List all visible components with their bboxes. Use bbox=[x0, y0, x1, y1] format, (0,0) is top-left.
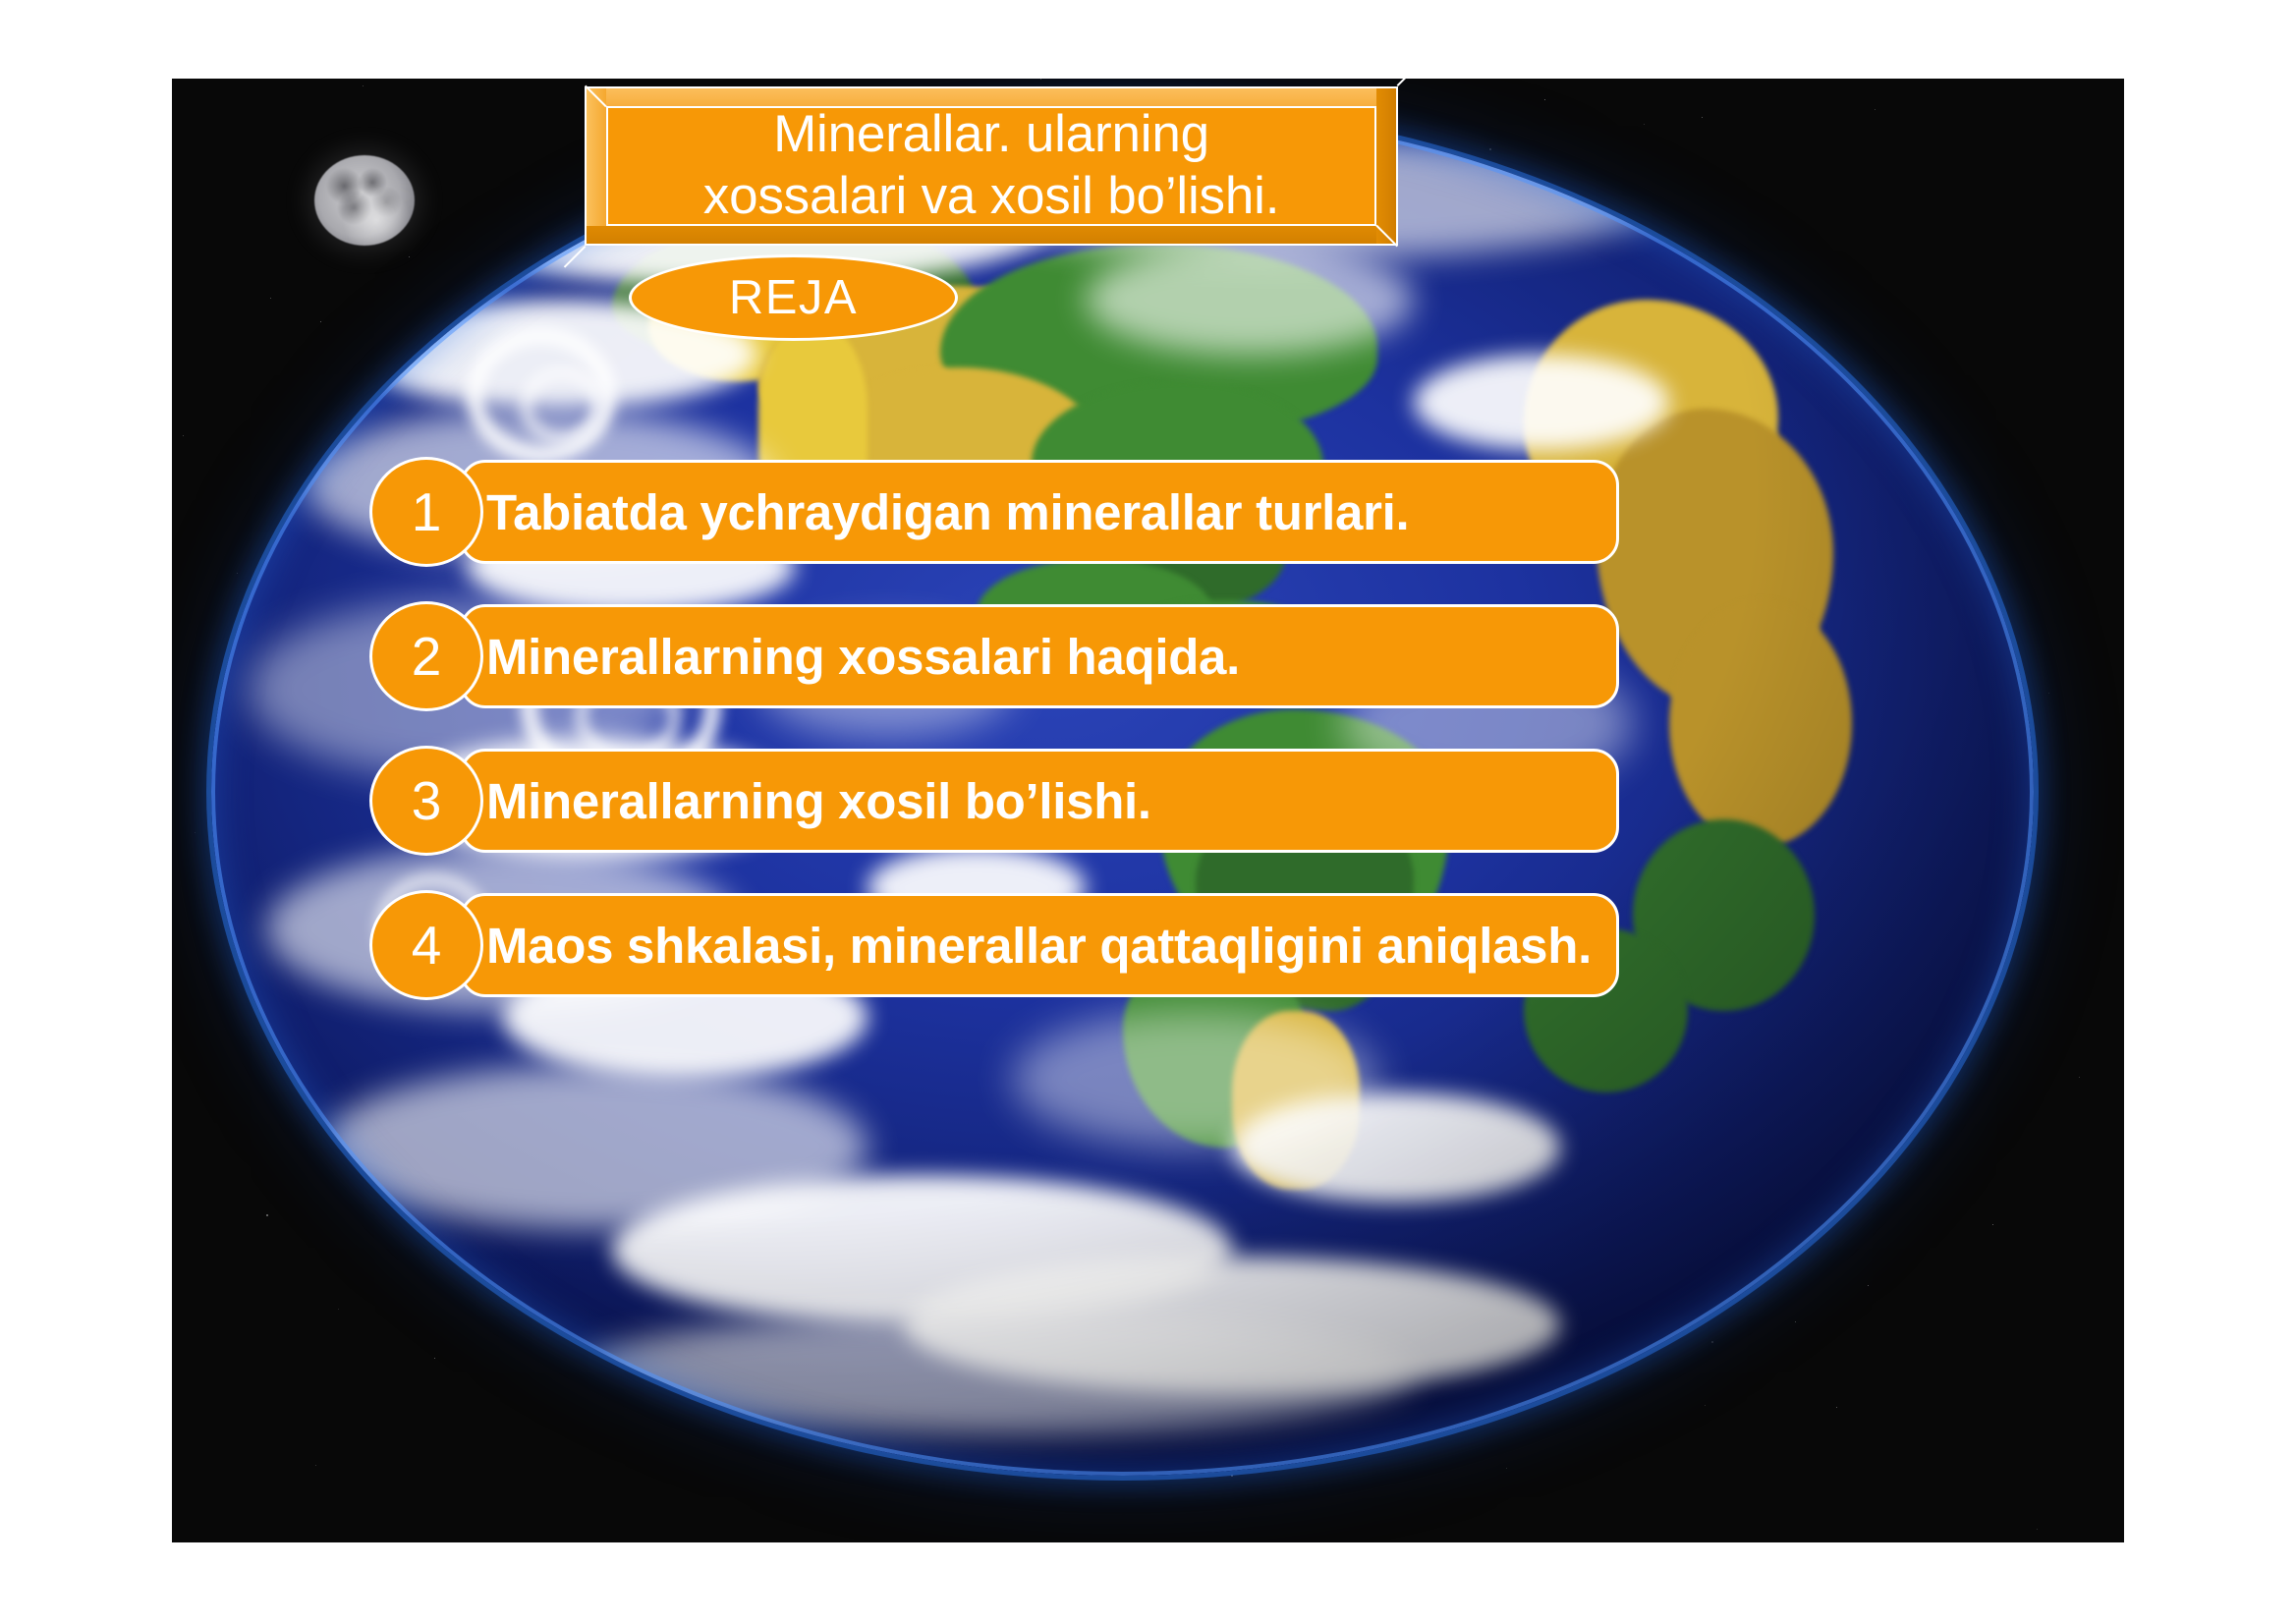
agenda-number: 3 bbox=[412, 774, 442, 828]
bevel-face-top bbox=[585, 86, 1398, 106]
bevel-face-bottom bbox=[585, 226, 1398, 246]
bevel-face-left bbox=[585, 86, 606, 246]
agenda-number-badge: 3 bbox=[369, 746, 483, 856]
star bbox=[183, 435, 184, 436]
agenda-number-badge: 4 bbox=[369, 890, 483, 1000]
agenda-item-2: 2 Minerallarning xossalari haqida. bbox=[172, 601, 2124, 711]
agenda-item-4: 4 Maos shkalasi, minerallar qattaqligini… bbox=[172, 890, 2124, 1000]
agenda-text: Maos shkalasi, minerallar qattaqligini a… bbox=[486, 893, 1592, 997]
star bbox=[363, 85, 364, 86]
agenda-number: 4 bbox=[412, 919, 442, 973]
agenda-text: Tabiatda ychraydigan minerallar turlari. bbox=[486, 460, 1409, 564]
cloud bbox=[1414, 355, 1669, 450]
slide-title-text: Minerallar. ularning xossalari va xosil … bbox=[690, 106, 1293, 226]
agenda-text: Minerallarning xosil bo’lishi. bbox=[486, 749, 1151, 853]
star bbox=[2079, 1077, 2080, 1078]
bevel-corner-tr bbox=[1397, 79, 1420, 86]
star bbox=[2037, 1529, 2038, 1530]
slide-title-inner-panel: Minerallar. ularning xossalari va xosil … bbox=[606, 106, 1376, 226]
bevel-face-right bbox=[1376, 86, 1398, 246]
agenda-number: 1 bbox=[412, 485, 442, 539]
cloud bbox=[576, 1312, 1414, 1434]
star bbox=[1544, 99, 1545, 100]
agenda-item-3: 3 Minerallarning xosil bo’lishi. bbox=[172, 746, 2124, 856]
agenda-number-badge: 2 bbox=[369, 601, 483, 711]
cloud bbox=[1086, 245, 1414, 354]
star bbox=[1040, 79, 1041, 80]
cloud bbox=[1232, 1092, 1560, 1202]
agenda-item-1: 1 Tabiatda ychraydigan minerallar turlar… bbox=[172, 457, 2124, 567]
slide-title-box: Minerallar. ularning xossalari va xosil … bbox=[585, 86, 1398, 246]
section-label-oval: REJA bbox=[629, 254, 958, 341]
agenda-number-badge: 1 bbox=[369, 457, 483, 567]
agenda-number: 2 bbox=[412, 630, 442, 684]
section-label-text: REJA bbox=[729, 270, 858, 325]
presentation-slide: Minerallar. ularning xossalari va xosil … bbox=[172, 79, 2124, 1542]
agenda-text: Minerallarning xossalari haqida. bbox=[486, 604, 1240, 708]
